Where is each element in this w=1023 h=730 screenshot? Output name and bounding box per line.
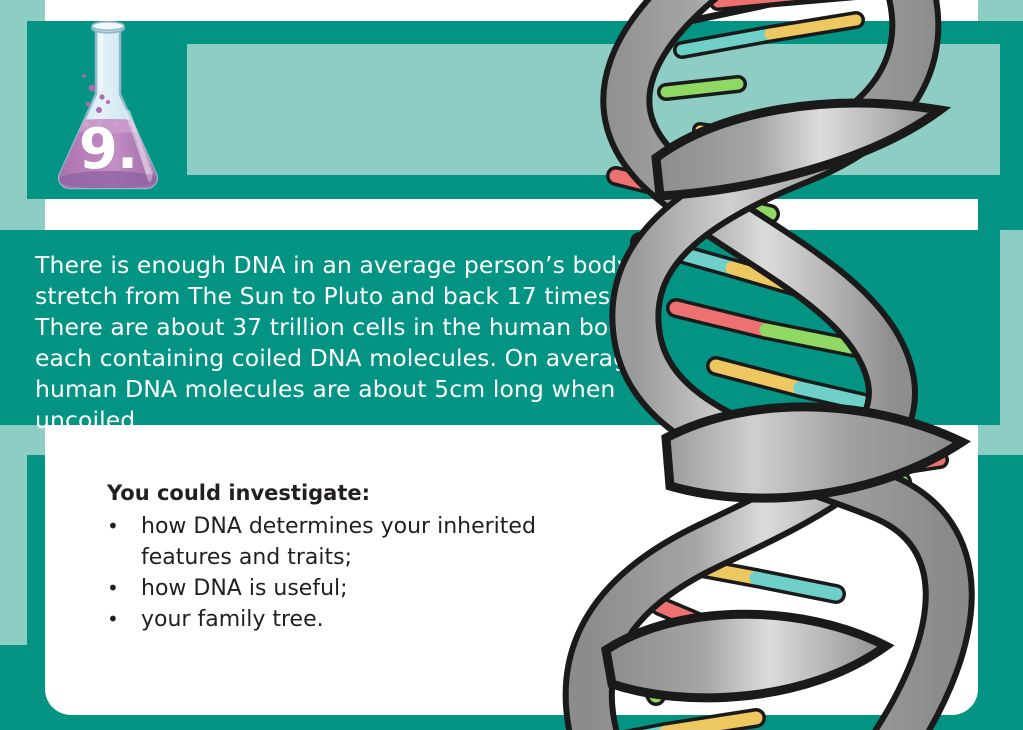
- dna-double-helix-illustration: [470, 0, 1023, 730]
- bullet-icon: •: [107, 604, 141, 635]
- bullet-icon: •: [107, 573, 141, 604]
- conical-flask-icon: 9.: [44, 14, 172, 204]
- left-accent-bar: [27, 455, 45, 645]
- poster-canvas: 9. There is enough DNA in an average per…: [0, 0, 1023, 730]
- bullet-icon: •: [107, 511, 141, 542]
